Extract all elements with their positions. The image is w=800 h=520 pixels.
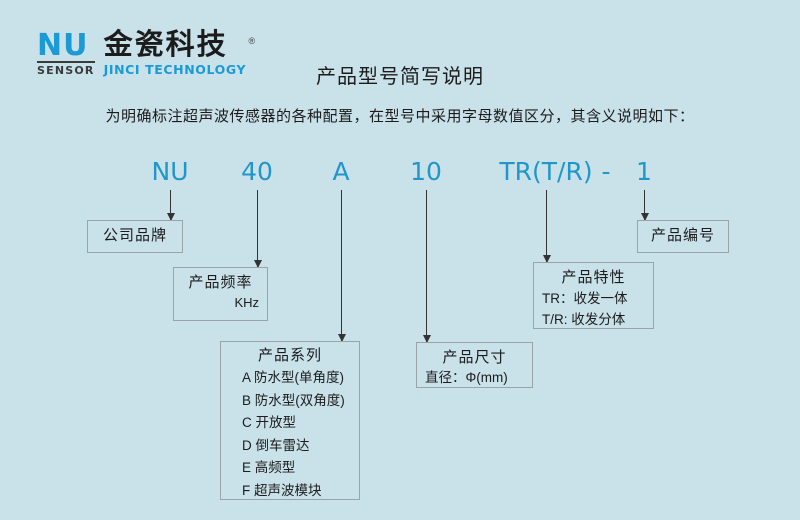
- series-item: E 高频型: [229, 457, 351, 480]
- callout-frequency-unit: KHz: [182, 293, 259, 313]
- callout-size-title: 产品尺寸: [425, 347, 524, 368]
- series-item-list: A 防水型(单角度)B 防水型(双角度)C 开放型D 倒车雷达E 高频型F 超声…: [229, 367, 351, 502]
- callout-serial-title: 产品编号: [646, 225, 720, 246]
- model-code-token: A: [332, 157, 349, 186]
- connector-size: [426, 190, 427, 342]
- model-code-token: TR(T/R): [499, 157, 592, 186]
- callout-brand-title: 公司品牌: [96, 225, 174, 246]
- diagram-canvas: NU SENSOR 金瓷科技 ® JINCI TECHNOLOGY 产品型号简写…: [0, 0, 800, 520]
- page-subtitle: 为明确标注超声波传感器的各种配置，在型号中采用字母数值区分，其含义说明如下：: [0, 105, 800, 126]
- logo-name-cn: 金瓷科技 ®: [104, 30, 247, 60]
- connector-feature: [546, 190, 547, 262]
- series-item: C 开放型: [229, 412, 351, 435]
- callout-size-spec: 直径：Φ(mm): [425, 368, 524, 388]
- connector-freq: [257, 190, 258, 267]
- callout-feature: 产品特性 TR：收发一体T/R: 收发分体: [533, 262, 654, 329]
- model-code-token: NU: [152, 157, 189, 186]
- feature-line-list: TR：收发一体T/R: 收发分体: [542, 288, 645, 330]
- feature-line: T/R: 收发分体: [542, 309, 645, 330]
- logo-name-cn-text: 金瓷科技: [104, 29, 228, 61]
- connector-serial: [644, 190, 645, 220]
- callout-frequency-title: 产品频率: [182, 272, 259, 293]
- series-item: D 倒车雷达: [229, 435, 351, 458]
- connector-brand: [170, 190, 171, 220]
- series-item: A 防水型(单角度): [229, 367, 351, 390]
- registered-trademark-icon: ®: [248, 26, 257, 56]
- callout-serial: 产品编号: [637, 220, 729, 253]
- callout-series: 产品系列 A 防水型(单角度)B 防水型(双角度)C 开放型D 倒车雷达E 高频…: [220, 341, 360, 500]
- callout-frequency: 产品频率 KHz: [173, 267, 268, 321]
- model-code-token: 1: [636, 157, 652, 186]
- callout-size: 产品尺寸 直径：Φ(mm): [416, 342, 533, 388]
- callout-series-title: 产品系列: [229, 345, 351, 366]
- callout-brand: 公司品牌: [87, 220, 183, 253]
- model-code-token: 10: [410, 157, 442, 186]
- logo-mark-text: NU: [37, 32, 95, 60]
- series-item: F 超声波模块: [229, 480, 351, 503]
- series-item: B 防水型(双角度): [229, 390, 351, 413]
- model-code-token: -: [601, 157, 610, 186]
- feature-line: TR：收发一体: [542, 288, 645, 309]
- callout-feature-title: 产品特性: [542, 267, 645, 288]
- connector-series: [341, 190, 342, 341]
- model-code-token: 40: [241, 157, 273, 186]
- page-title: 产品型号简写说明: [0, 60, 800, 89]
